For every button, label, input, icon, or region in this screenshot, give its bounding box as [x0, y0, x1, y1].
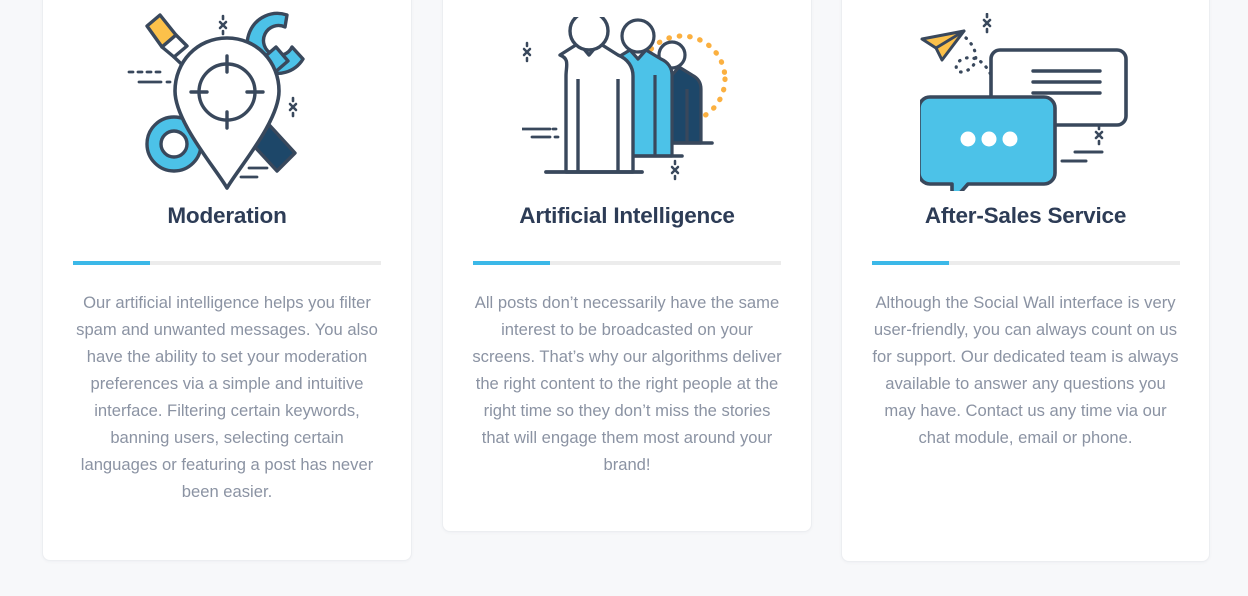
card-body-text: Our artificial intelligence helps you fi…	[71, 289, 383, 505]
feature-card-moderation[interactable]: Moderation Our artificial intelligence h…	[42, 0, 412, 561]
people-group-illustration	[443, 0, 811, 201]
card-title: After-Sales Service	[842, 201, 1209, 231]
card-divider-accent	[872, 261, 949, 265]
chat-bubbles-illustration	[842, 0, 1209, 201]
card-title: Artificial Intelligence	[443, 201, 811, 231]
feature-card-after-sales-service[interactable]: After-Sales Service Although the Social …	[841, 0, 1210, 562]
card-title: Moderation	[43, 201, 411, 231]
pin-tools-illustration	[43, 0, 411, 201]
card-divider-accent	[473, 261, 550, 265]
card-divider-accent	[73, 261, 150, 265]
card-divider	[73, 261, 381, 265]
card-body-text: Although the Social Wall interface is ve…	[869, 289, 1183, 451]
feature-card-grid: Moderation Our artificial intelligence h…	[0, 0, 1248, 596]
feature-card-artificial-intelligence[interactable]: Artificial Intelligence All posts don’t …	[442, 0, 812, 532]
card-body-text: All posts don’t necessarily have the sam…	[470, 289, 784, 478]
card-divider	[872, 261, 1180, 265]
card-divider	[473, 261, 781, 265]
